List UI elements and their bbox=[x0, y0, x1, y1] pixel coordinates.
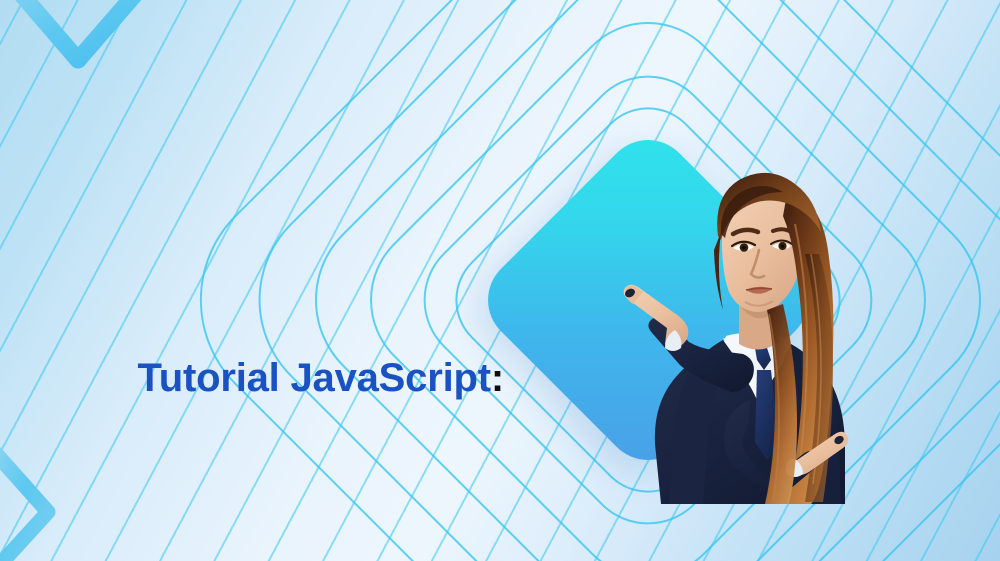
headline-seg: : bbox=[491, 356, 504, 400]
banner-root: Tutorial JavaScript: 5 Jenis Operator Lo… bbox=[0, 0, 1000, 561]
page-title: Tutorial JavaScript: 5 Jenis Operator Lo… bbox=[72, 182, 632, 561]
headline-seg: Tutorial JavaScript bbox=[137, 356, 490, 400]
headline-line-1: Tutorial JavaScript: bbox=[72, 294, 632, 462]
chevron-down-icon bbox=[0, 0, 176, 93]
